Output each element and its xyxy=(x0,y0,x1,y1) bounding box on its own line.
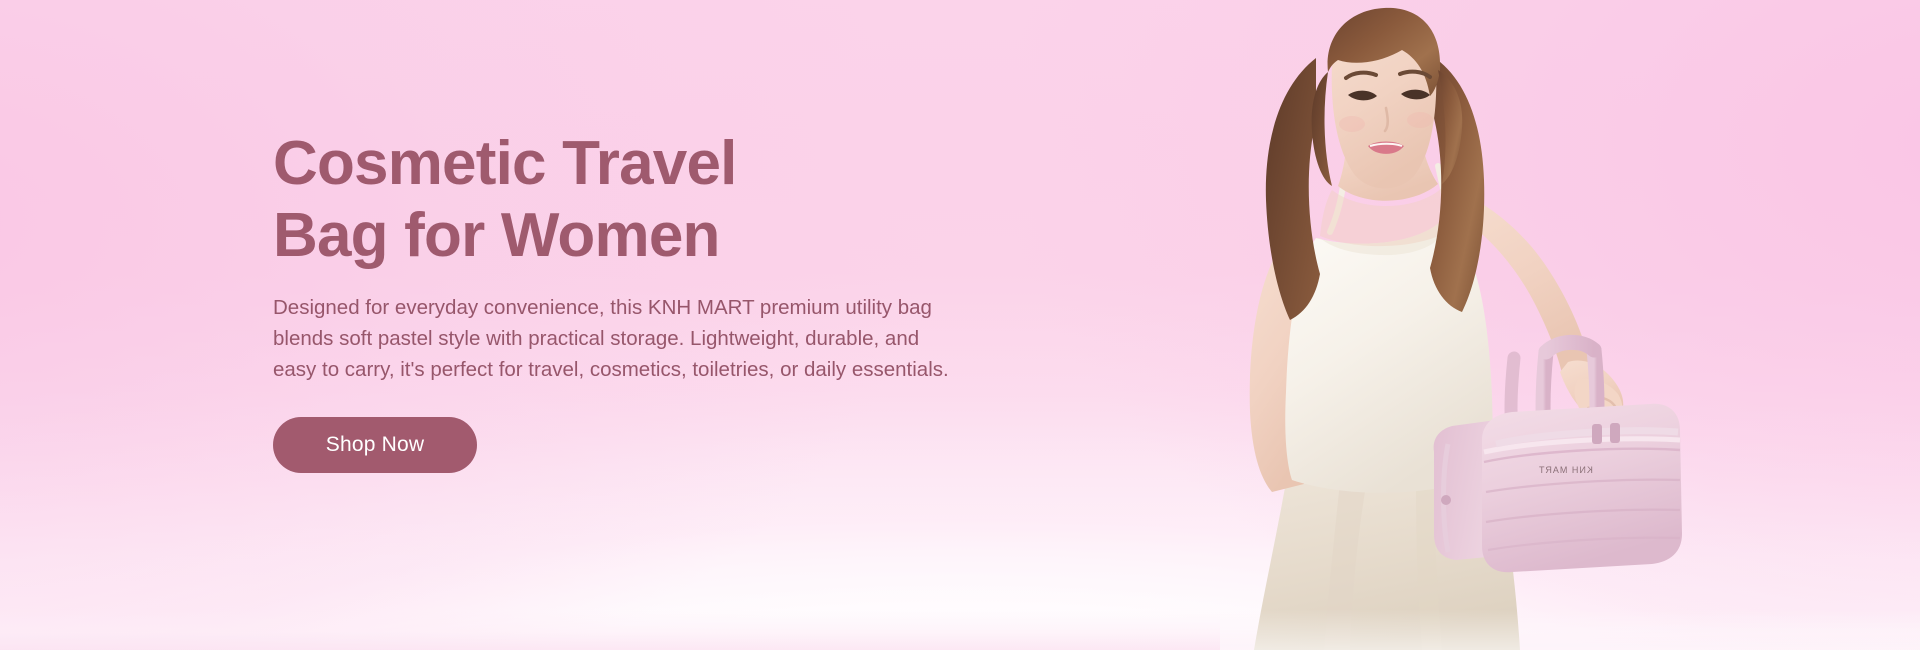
hero-description: Designed for everyday convenience, this … xyxy=(273,292,1028,385)
cta-container: Shop Now xyxy=(273,417,1033,473)
headline-line-1: Cosmetic Travel xyxy=(273,128,1033,200)
hero-banner: KNH MART Cosmetic Travel Bag for Women D… xyxy=(0,0,1920,650)
description-line-3: easy to carry, it's perfect for travel, … xyxy=(273,354,1028,385)
bag-side-zipper-pull xyxy=(1441,495,1451,505)
bag-brand-label: KNH MART xyxy=(1538,465,1593,475)
shop-now-button[interactable]: Shop Now xyxy=(273,417,477,473)
page-title: Cosmetic Travel Bag for Women xyxy=(273,128,1033,272)
headline-line-2: Bag for Women xyxy=(273,200,1033,272)
bag-zipper-pull-1 xyxy=(1592,424,1602,444)
hero-text-block: Cosmetic Travel Bag for Women Designed f… xyxy=(273,128,1033,473)
bag-zipper-pull-2 xyxy=(1610,423,1620,443)
description-line-1: Designed for everyday convenience, this … xyxy=(273,292,1028,323)
model-product-photo: KNH MART xyxy=(1220,0,1920,650)
description-line-2: blends soft pastel style with practical … xyxy=(273,323,1028,354)
